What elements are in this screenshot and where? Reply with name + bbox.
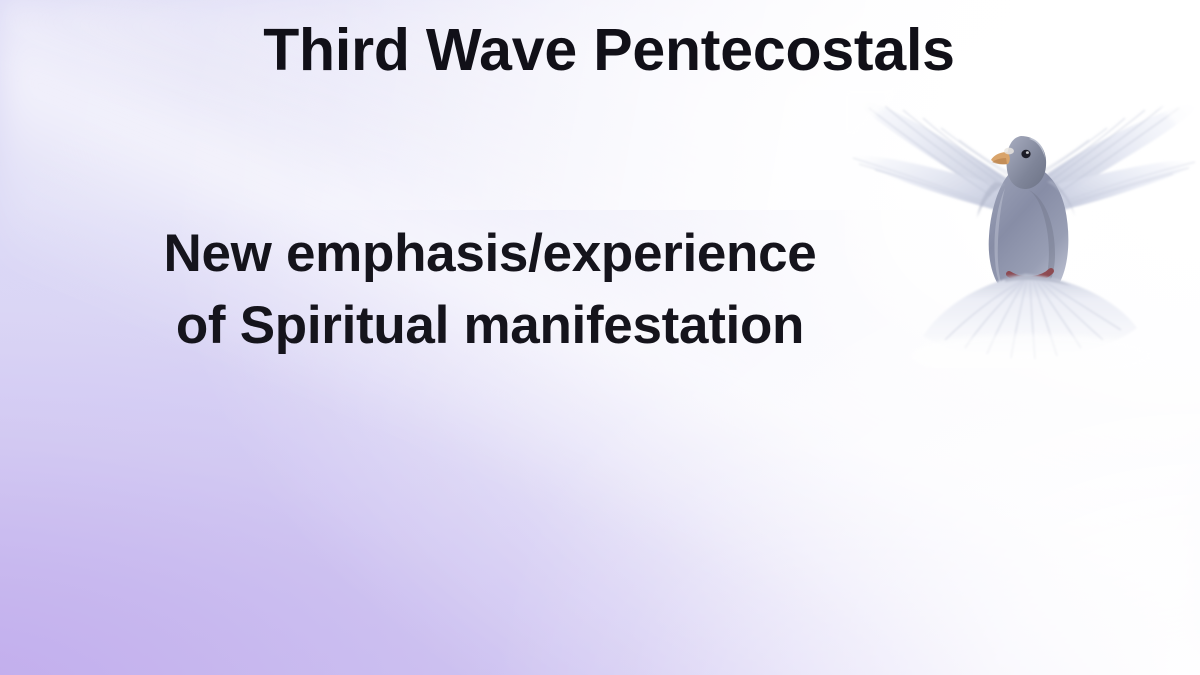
presentation-slide: Third Wave Pentecostals New emphasis/exp…	[0, 0, 1200, 675]
slide-body-text: New emphasis/experience of Spiritual man…	[0, 218, 980, 362]
slide-title: Third Wave Pentecostals	[9, 16, 1200, 84]
body-line-1: New emphasis/experience	[0, 218, 980, 290]
body-line-2: of Spiritual manifestation	[0, 290, 980, 362]
